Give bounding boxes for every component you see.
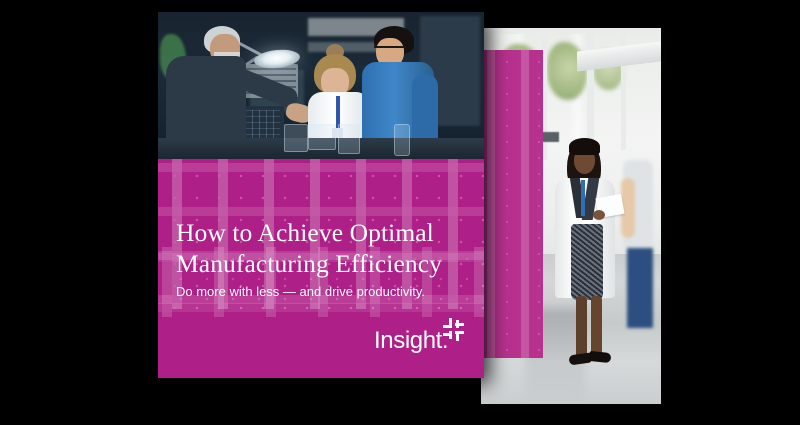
back-page-paragraph-1: s making ses that nvestments s. Time y i… <box>481 108 543 181</box>
back-page-paragraph-3: hening your low and <box>481 267 543 296</box>
back-page-heading: rith <box>481 50 543 94</box>
cover-text-area: How to Achieve Optimal Manufacturing Eff… <box>158 159 484 378</box>
insight-wordmark: Insight. <box>374 328 448 354</box>
front-cover-card[interactable]: How to Achieve Optimal Manufacturing Eff… <box>158 12 484 378</box>
insight-logo[interactable]: Insight. <box>374 320 466 354</box>
back-page-paragraph-4: ations, cut pace the <box>481 310 543 339</box>
glassware <box>284 124 308 152</box>
screenshot-stage: rith s making ses that nvestments s. Tim… <box>0 0 800 425</box>
glassware <box>394 124 410 156</box>
insight-hash-mark-icon <box>442 318 466 342</box>
glassware <box>338 124 360 154</box>
back-page[interactable]: rith s making ses that nvestments s. Tim… <box>481 28 661 404</box>
cover-subtitle: Do more with less — and drive productivi… <box>176 283 466 300</box>
back-page-paragraph-2: iness is changing anticipate ur revenue <box>481 195 543 253</box>
cover-photo <box>158 12 484 159</box>
insight-wordmark-text: Insight <box>374 327 442 354</box>
cover-title: How to Achieve Optimal Manufacturing Eff… <box>176 217 462 279</box>
glassware <box>308 124 336 150</box>
back-page-text-panel: rith s making ses that nvestments s. Tim… <box>481 50 543 358</box>
back-page-text-block: rith s making ses that nvestments s. Tim… <box>481 50 543 339</box>
